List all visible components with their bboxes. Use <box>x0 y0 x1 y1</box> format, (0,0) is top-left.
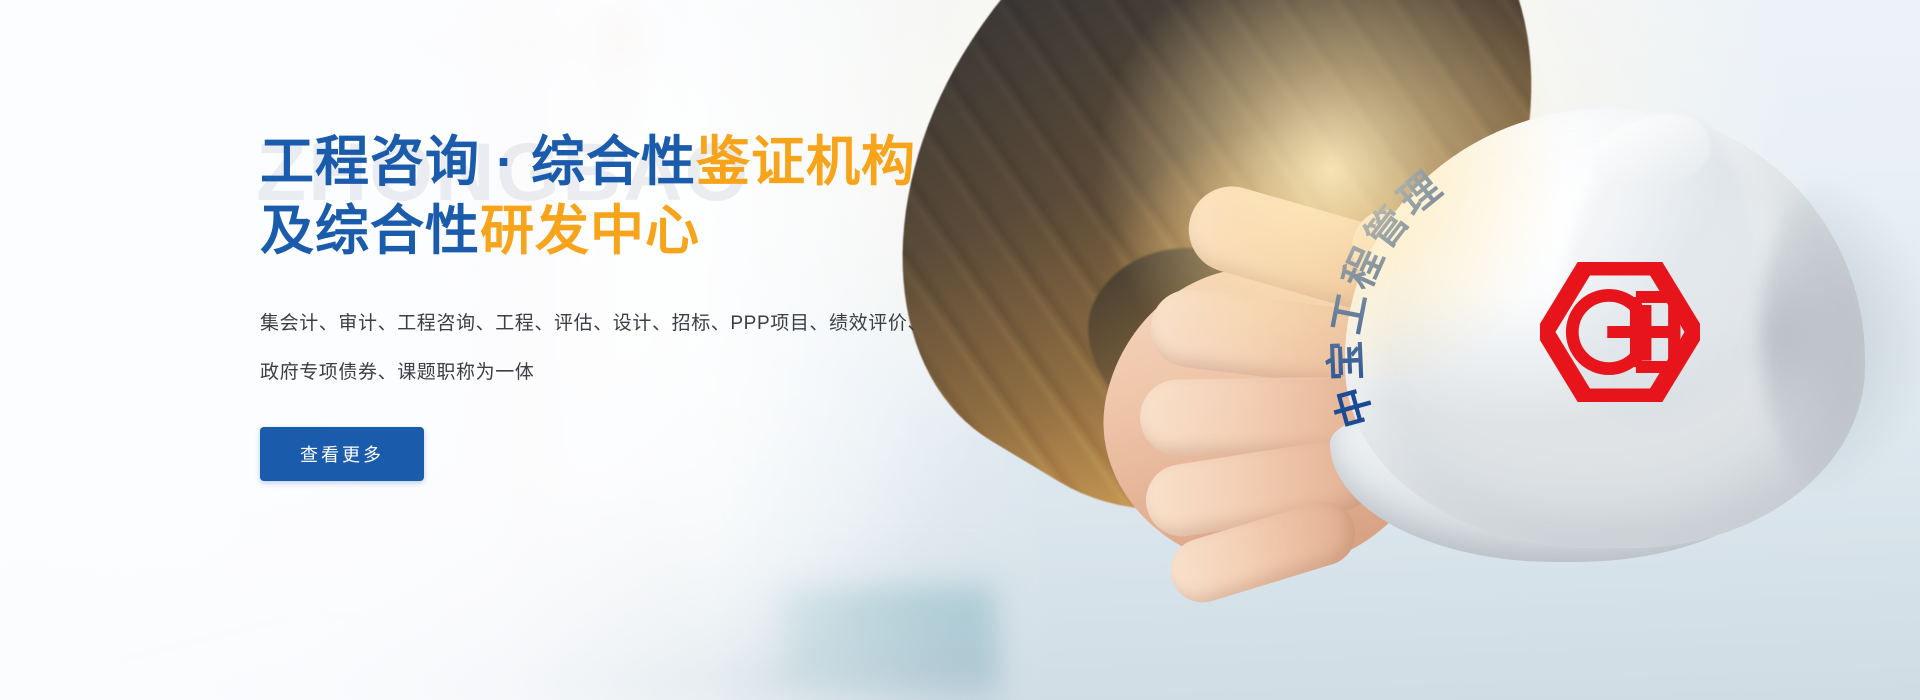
hero-content: 工程咨询 · 综合性鉴证机构 及综合性研发中心 集会计、审计、工程咨询、工程、评… <box>260 128 1040 481</box>
hero-description-line-2: 政府专项债券、课题职称为一体 <box>260 349 940 397</box>
headline-line-1: 工程咨询 · 综合性鉴证机构 <box>260 128 1040 197</box>
headline-line-1-blue: 工程咨询 · 综合性 <box>260 132 696 192</box>
view-more-button[interactable]: 查看更多 <box>260 427 424 481</box>
page-title: 工程咨询 · 综合性鉴证机构 及综合性研发中心 <box>260 128 1040 266</box>
headline-line-2-blue: 及综合性 <box>260 201 480 261</box>
hero-banner: 中宝工程管理 ZHONGBAO 工程咨询 · 综合性鉴证机构 及综合性研发中心 … <box>0 0 1920 700</box>
headline-line-1-orange: 鉴证机构 <box>696 132 916 192</box>
headline-line-2-orange: 研发中心 <box>480 201 700 261</box>
zhongbao-hexagon-logo <box>1540 262 1700 402</box>
hero-description: 集会计、审计、工程咨询、工程、评估、设计、招标、PPP项目、绩效评价、 政府专项… <box>260 266 940 397</box>
headline-line-2: 及综合性研发中心 <box>260 197 1040 266</box>
hero-description-line-1: 集会计、审计、工程咨询、工程、评估、设计、招标、PPP项目、绩效评价、 <box>260 300 940 348</box>
